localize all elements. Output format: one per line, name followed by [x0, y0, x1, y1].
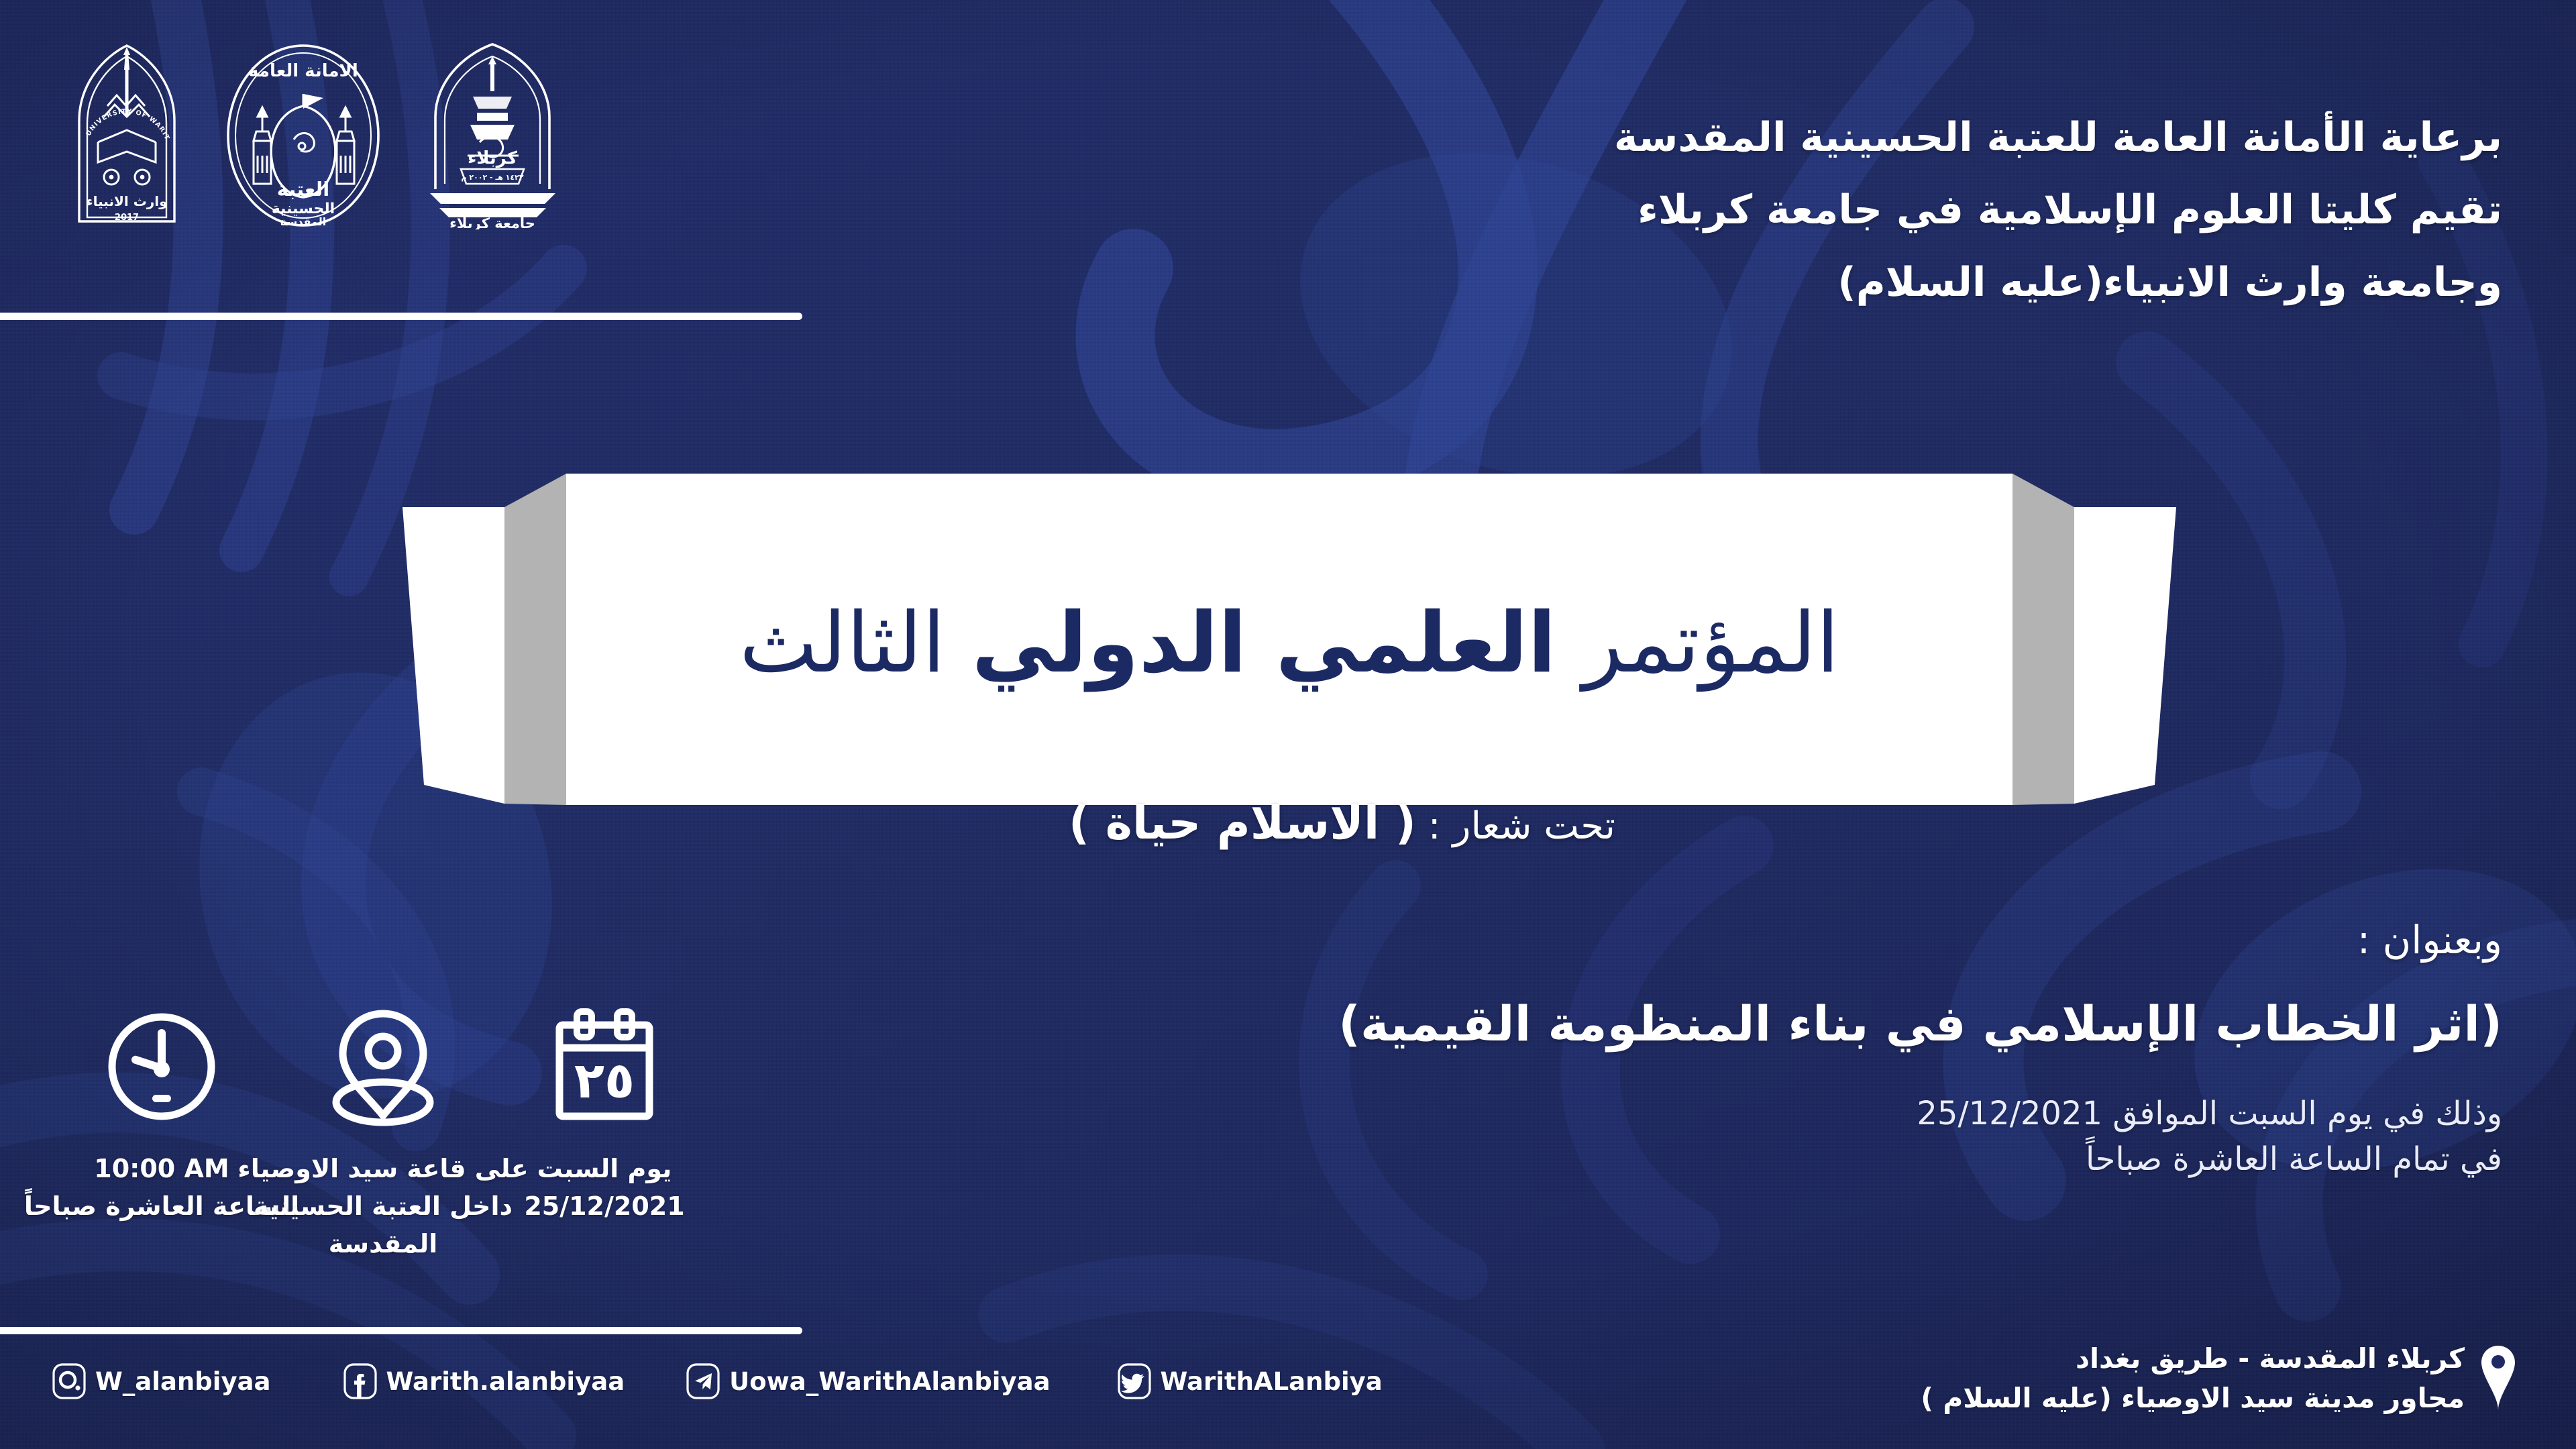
- logo-row: وارث الانبياء 2017 UNIVERSITY OF WARITH …: [67, 42, 565, 229]
- ribbon-title-prefix: المؤتمر: [1582, 595, 1839, 692]
- header-line-3: وجامعة وارث الانبياء(عليه السلام): [1614, 262, 2502, 303]
- svg-text:جامعة كربلاء: جامعة كربلاء: [449, 215, 535, 229]
- svg-text:2017: 2017: [115, 213, 139, 223]
- svg-text:المقدسة: المقدسة: [280, 215, 326, 228]
- university-of-warith-al-anbiya-logo: وارث الانبياء 2017 UNIVERSITY OF WARITH …: [67, 42, 186, 229]
- info-venue-line-3: المقدسة: [237, 1225, 528, 1263]
- social-item-instagram[interactable]: W_alanbiyaa: [51, 1360, 271, 1402]
- info-venue-line-1: على قاعة سيد الاوصياء: [237, 1150, 528, 1187]
- conference-theme-title: (اثر الخطاب الإسلامي في بناء المنظومة ال…: [1338, 1000, 2502, 1048]
- twitter-handle[interactable]: WarithALanbiya: [1161, 1367, 1383, 1396]
- info-text-date: يوم السبت 25/12/2021: [524, 1150, 684, 1225]
- social-media-row: W_alanbiyaa Warith.alanbiyaa Uowa_Warith…: [51, 1360, 1383, 1402]
- info-date-line-2: 25/12/2021: [524, 1187, 684, 1225]
- header-line-2: تقيم كليتا العلوم الإسلامية في جامعة كرب…: [1614, 190, 2502, 230]
- slogan-label: تحت شعار :: [1416, 804, 1615, 848]
- address-lines: كربلاء المقدسة - طريق بغداد مجاور مدينة …: [1921, 1339, 2465, 1419]
- instagram-icon[interactable]: [51, 1360, 87, 1402]
- facebook-handle[interactable]: Warith.alanbiyaa: [386, 1367, 625, 1396]
- location-pin-filled-icon: [2479, 1343, 2517, 1413]
- conference-title-text: المؤتمر العلمي الدولي الثالث: [397, 470, 2182, 825]
- address-block: كربلاء المقدسة - طريق بغداد مجاور مدينة …: [1921, 1339, 2517, 1419]
- header-block: برعاية الأمانة العامة للعتبة الحسينية ال…: [1614, 117, 2502, 303]
- info-item-date: ٢٥ يوم السبت 25/12/2021: [494, 1000, 715, 1263]
- social-item-twitter[interactable]: WarithALanbiya: [1116, 1360, 1383, 1402]
- header-line-1: برعاية الأمانة العامة للعتبة الحسينية ال…: [1614, 117, 2502, 158]
- details-label: وبعنوان :: [1338, 920, 2502, 959]
- calendar-day-number: ٢٥: [574, 1052, 635, 1110]
- header-divider-rule: [0, 313, 802, 320]
- slogan-value: ( الاسلام حياة ): [1069, 797, 1416, 850]
- address-line-1: كربلاء المقدسة - طريق بغداد: [1921, 1339, 2465, 1379]
- telegram-handle[interactable]: Uowa_WarithAlanbiyaa: [729, 1367, 1050, 1396]
- info-text-venue: على قاعة سيد الاوصياء داخل العتبة الحسين…: [237, 1150, 528, 1263]
- university-of-karbala-logo: كربلاء ١٤٢٢ هـ - ٢٠٠٢ م جامعة كربلاء: [421, 42, 565, 229]
- footer-divider-rule: [0, 1327, 802, 1334]
- social-item-telegram[interactable]: Uowa_WarithAlanbiyaa: [685, 1360, 1050, 1402]
- address-line-2: مجاور مدينة سيد الاوصياء (عليه السلام ): [1921, 1379, 2465, 1418]
- svg-text:العتبة: العتبة: [277, 178, 329, 201]
- info-item-venue: على قاعة سيد الاوصياء داخل العتبة الحسين…: [272, 1000, 494, 1263]
- event-info-row: 10:00 AM الساعة العاشرة صباحاً على قاعة …: [51, 1000, 715, 1263]
- details-date-line: وذلك في يوم السبت الموافق 25/12/2021: [1338, 1091, 2502, 1136]
- calendar-icon: ٢٥: [547, 1000, 661, 1134]
- ribbon-title-suffix: الثالث: [739, 595, 945, 692]
- location-pin-icon: [324, 1000, 442, 1134]
- svg-text:UNIVERSITY OF WARITH AL-ANBIYA: UNIVERSITY OF WARITH AL-ANBIYA A: [67, 42, 171, 142]
- conference-slogan: تحت شعار : ( الاسلام حياة ): [1069, 797, 1615, 850]
- details-time-line: في تمام الساعة العاشرة صباحاً: [1338, 1136, 2502, 1182]
- ribbon-title-emphasis: العلمي الدولي: [972, 595, 1556, 692]
- info-venue-line-2: داخل العتبة الحسينية: [237, 1187, 528, 1225]
- info-date-line-1: يوم السبت: [524, 1150, 684, 1187]
- instagram-handle[interactable]: W_alanbiyaa: [95, 1367, 271, 1396]
- svg-text:كربلاء: كربلاء: [468, 148, 518, 168]
- clock-icon: [103, 1000, 221, 1134]
- telegram-icon[interactable]: [685, 1360, 721, 1402]
- facebook-icon[interactable]: [342, 1360, 378, 1402]
- svg-text:وارث الانبياء: وارث الانبياء: [86, 193, 167, 209]
- social-item-facebook[interactable]: Warith.alanbiyaa: [342, 1360, 625, 1402]
- conference-poster: وارث الانبياء 2017 UNIVERSITY OF WARITH …: [0, 0, 2576, 1449]
- svg-text:الامانة العامة: الامانة العامة: [248, 61, 358, 81]
- husseini-holy-shrine-logo: الامانة العامة العتبة الحسينية المقدسة: [215, 42, 392, 229]
- twitter-icon[interactable]: [1116, 1360, 1152, 1402]
- conference-details-block: وبعنوان : (اثر الخطاب الإسلامي في بناء ا…: [1338, 920, 2502, 1182]
- conference-title-ribbon: المؤتمر العلمي الدولي الثالث: [397, 470, 2182, 825]
- svg-text:١٤٢٢ هـ - ٢٠٠٢ م: ١٤٢٢ هـ - ٢٠٠٢ م: [461, 173, 523, 182]
